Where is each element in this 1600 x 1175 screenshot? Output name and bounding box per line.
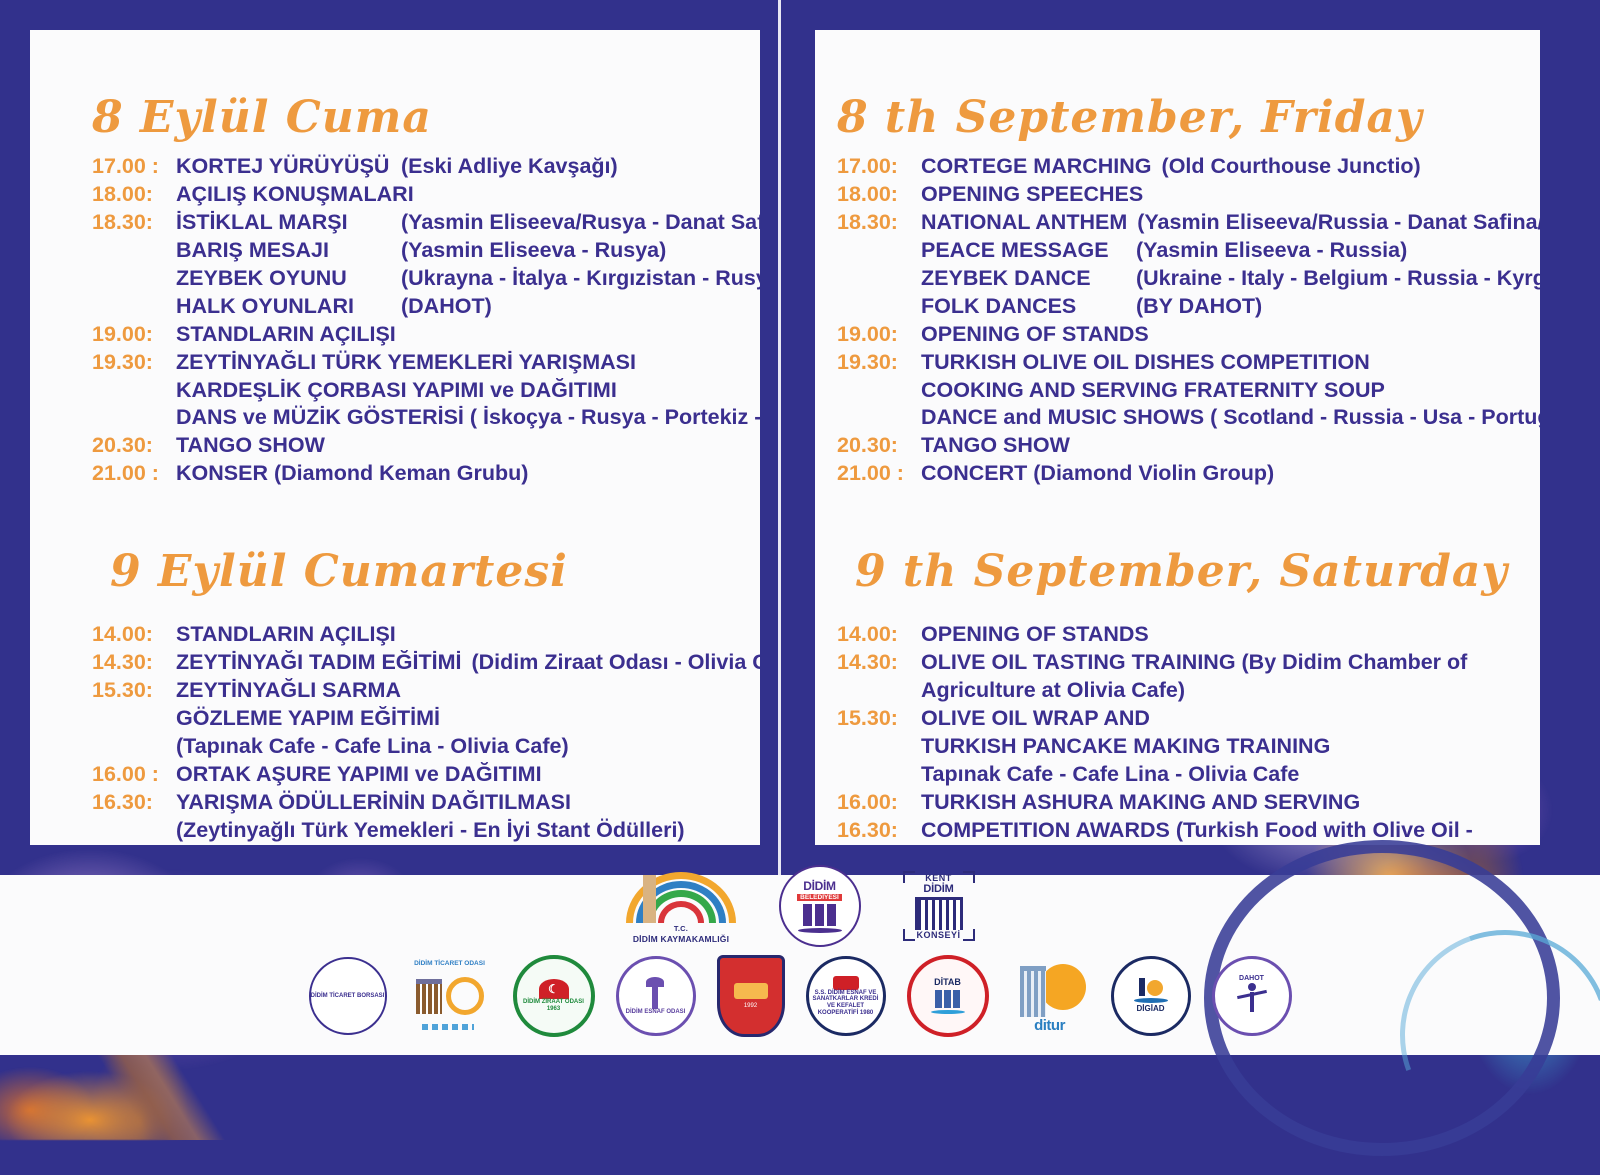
event-detail: (Ukraine - Italy - Belgium - Russia - Ky… <box>1126 265 1540 293</box>
event-detail: (Eski Adliye Kavşağı) <box>391 153 618 181</box>
event-detail: (Yasmin Eliseeva/Russia - Danat Safina/K… <box>1127 209 1540 237</box>
event-title: TANGO SHOW <box>176 432 325 460</box>
event-detail: (Yasmin Eliseeva - Rusya) <box>391 237 666 265</box>
schedule-row: 17.00 : KORTEJ YÜRÜYÜŞÜ (Eski Adliye Kav… <box>92 153 760 181</box>
primary-logo-row: T.C. DİDİM KAYMAKAMLIĞI DİDİM BELEDİYESİ… <box>0 862 1600 950</box>
event-time: 20.30: <box>837 432 921 460</box>
event-title: PEACE MESSAGE <box>921 237 1126 265</box>
schedule-turkish-friday: 17.00 : KORTEJ YÜRÜYÜŞÜ (Eski Adliye Kav… <box>92 153 760 488</box>
logo-kaymakamlik-line1: T.C. <box>674 925 688 934</box>
schedule-row: 20.30: TANGO SHOW <box>92 432 760 460</box>
section-spacer <box>837 488 1540 546</box>
event-title: FOLK DANCES <box>921 293 1126 321</box>
event-time: 15.30: <box>837 705 921 733</box>
event-time: 14.30: <box>837 649 921 677</box>
panel-inner-english: 8 th September, Friday 17.00: CORTEGE MA… <box>815 30 1540 845</box>
schedule-row: FOLK DANCES (BY DAHOT) <box>837 293 1540 321</box>
logo-didim-ticaret-odasi-label: DİDİM TİCARET ODASI <box>408 960 492 967</box>
logo-ditab-label: DİTAB <box>934 978 961 987</box>
schedule-row: 19.00: STANDLARIN AÇILIŞI <box>92 321 760 349</box>
schedule-row: 15.30: ZEYTİNYAĞLI SARMA <box>92 677 760 705</box>
event-title: OPENING OF STANDS <box>921 621 1149 649</box>
event-title: TURKISH ASHURA MAKING AND SERVING <box>921 789 1360 817</box>
schedule-row: 14.00: STANDLARIN AÇILIŞI <box>92 621 760 649</box>
schedule-row: Agriculture at Olivia Cafe) <box>837 677 1540 705</box>
logo-didim-esnaf-odasi-label: DİDİM ESNAF ODASI <box>626 1009 686 1016</box>
event-title: KORTEJ YÜRÜYÜŞÜ <box>176 153 391 181</box>
event-detail: (Yasmin Eliseeva/Rusya - Danat Safin / K… <box>391 209 760 237</box>
event-title: COMPETITION AWARDS (Turkish Food with Ol… <box>921 817 1473 845</box>
wave-icon <box>422 1024 474 1030</box>
logo-dahot-label: DAHOT <box>1239 975 1264 982</box>
rainbow-arc-icon <box>629 875 733 923</box>
sponsor-logo-row: DİDİM TİCARET BORSASI DİDİM TİCARET ODAS… <box>0 950 1600 1042</box>
logo-ticaret-borsasi-label: DİDİM TİCARET BORSASI <box>311 993 385 1000</box>
event-title: HALK OYUNLARI <box>176 293 391 321</box>
event-time: 14.30: <box>92 649 176 677</box>
logo-ticaret-borsasi: DİDİM TİCARET BORSASI <box>309 957 387 1035</box>
event-title: ZEYBEK DANCE <box>921 265 1126 293</box>
schedule-row: ZEYBEK OYUNU (Ukrayna - İtalya - Kırgızi… <box>92 265 760 293</box>
logo-sanayi-odasi: 1992 <box>717 955 785 1037</box>
event-time: 19.00: <box>92 321 176 349</box>
schedule-row: COOKING AND SERVING FRATERNITY SOUP <box>837 377 1540 405</box>
logo-dahot: DAHOT <box>1212 956 1292 1036</box>
schedule-row: 21.00 : CONCERT (Diamond Violin Group) <box>837 460 1540 488</box>
event-title: GÖZLEME YAPIM EĞİTİMİ <box>176 705 440 733</box>
schedule-row: 16.00 : ORTAK AŞURE YAPIMI ve DAĞITIMI <box>92 761 760 789</box>
event-detail: (Didim Ziraat Odası - Olivia Cafe) <box>461 649 760 677</box>
panel-inner-turkish: 8 Eylül Cuma 17.00 : KORTEJ YÜRÜYÜŞÜ (Es… <box>30 30 760 845</box>
event-detail: (DAHOT) <box>391 293 492 321</box>
logo-belediye-line1: DİDİM <box>803 879 836 893</box>
schedule-turkish-saturday: 14.00: STANDLARIN AÇILIŞI 14.30: ZEYTİNY… <box>92 621 760 845</box>
day-title-english-friday: 8 th September, Friday <box>837 92 1540 143</box>
event-detail: (Yasmin Eliseeva - Russia) <box>1126 237 1407 265</box>
panel-divider <box>778 0 781 875</box>
section-spacer <box>92 488 760 546</box>
poster-root: 8 Eylül Cuma 17.00 : KORTEJ YÜRÜYÜŞÜ (Es… <box>0 0 1600 1130</box>
event-title: YARIŞMA ÖDÜLLERİNİN DAĞITILMASI <box>176 789 571 817</box>
logo-kent-line2: DİDİM <box>923 883 953 895</box>
schedule-row: 18.00: AÇILIŞ KONUŞMALARI <box>92 181 760 209</box>
logo-kent-line3: KONSEYİ <box>916 930 960 940</box>
event-time: 14.00: <box>837 621 921 649</box>
schedule-english-friday: 17.00: CORTEGE MARCHING (Old Courthouse … <box>837 153 1540 488</box>
logo-didim-esnaf-odasi-seal: DİDİM ESNAF ODASI <box>616 956 696 1036</box>
logo-sanayi-odasi-label: 1992 <box>744 1003 757 1010</box>
event-title: OLIVE OIL TASTING TRAINING (By Didim Cha… <box>921 649 1467 677</box>
event-detail: (BY DAHOT) <box>1126 293 1262 321</box>
logo-ditur: ditur <box>1010 958 1090 1034</box>
schedule-row: ZEYBEK DANCE (Ukraine - Italy - Belgium … <box>837 265 1540 293</box>
event-title: (Tapınak Cafe - Cafe Lina - Olivia Cafe) <box>176 733 569 761</box>
logo-digiad-seal: DİGİAD <box>1111 956 1191 1036</box>
event-time: 16.00: <box>837 789 921 817</box>
logo-kaymakamlik: T.C. DİDİM KAYMAKAMLIĞI <box>624 867 739 945</box>
event-time: 16.00 : <box>92 761 176 789</box>
schedule-row: 14.30: OLIVE OIL TASTING TRAINING (By Di… <box>837 649 1540 677</box>
schedule-row: 21.00 : KONSER (Diamond Keman Grubu) <box>92 460 760 488</box>
schedule-row: 16.00: TURKISH ASHURA MAKING AND SERVING <box>837 789 1540 817</box>
column-icon <box>416 979 442 1014</box>
schedule-row: TURKISH PANCAKE MAKING TRAINING <box>837 733 1540 761</box>
event-title: ZEYBEK OYUNU <box>176 265 391 293</box>
event-title: ZEYTİNYAĞLI TÜRK YEMEKLERİ YARIŞMASI <box>176 349 636 377</box>
pillars-icon <box>803 904 836 926</box>
logo-ziraat-odasi-seal: ☾ DİDİM ZİRAAT ODASI 1963 <box>513 955 595 1037</box>
event-title: ORTAK AŞURE YAPIMI ve DAĞITIMI <box>176 761 542 789</box>
logo-esnaf-kefalet-label: S.S. DİDİM ESNAF VE SANATKARLAR KREDİ VE… <box>809 990 883 1016</box>
wave-icon <box>798 928 842 933</box>
schedule-row: BARIŞ MESAJI (Yasmin Eliseeva - Rusya) <box>92 237 760 265</box>
event-time: 18.00: <box>837 181 921 209</box>
event-title: OPENING OF STANDS <box>921 321 1149 349</box>
event-title: OPENING SPEECHES <box>921 181 1143 209</box>
logo-ditab: DİTAB <box>907 955 989 1037</box>
schedule-row: 18.30: İSTİKLAL MARŞI (Yasmin Eliseeva/R… <box>92 209 760 237</box>
event-time: 21.00 : <box>837 460 921 488</box>
event-title: COOKING AND SERVING FRATERNITY SOUP <box>921 377 1385 405</box>
event-title: OLIVE OIL WRAP AND <box>921 705 1150 733</box>
logo-belediye-line2: BELEDİYESİ <box>797 894 842 901</box>
event-title: ZEYTİNYAĞLI SARMA <box>176 677 401 705</box>
schedule-row: 15.30: OLIVE OIL WRAP AND <box>837 705 1540 733</box>
event-time: 15.30: <box>92 677 176 705</box>
logo-esnaf-kefalet: S.S. DİDİM ESNAF VE SANATKARLAR KREDİ VE… <box>806 956 886 1036</box>
event-time: 16.30: <box>837 817 921 845</box>
program-panel-turkish: 8 Eylül Cuma 17.00 : KORTEJ YÜRÜYÜŞÜ (Es… <box>30 30 760 845</box>
logo-ditab-seal: DİTAB <box>907 955 989 1037</box>
bracket-icon <box>903 871 915 883</box>
sun-icon <box>1040 964 1086 1010</box>
schedule-row: GÖZLEME YAPIM EĞİTİMİ <box>92 705 760 733</box>
event-title: İSTİKLAL MARŞI <box>176 209 391 237</box>
event-title: CORTEGE MARCHING <box>921 153 1152 181</box>
logo-esnaf-kefalet-seal: S.S. DİDİM ESNAF VE SANATKARLAR KREDİ VE… <box>806 956 886 1036</box>
schedule-row: HALK OYUNLARI (DAHOT) <box>92 293 760 321</box>
event-time: 18.00: <box>92 181 176 209</box>
schedule-row: (Tapınak Cafe - Cafe Lina - Olivia Cafe) <box>92 733 760 761</box>
wave-icon <box>1134 998 1168 1003</box>
event-time: 19.00: <box>837 321 921 349</box>
schedule-row: 17.00: CORTEGE MARCHING (Old Courthouse … <box>837 153 1540 181</box>
event-time: 16.30: <box>92 789 176 817</box>
event-time: 14.00: <box>92 621 176 649</box>
event-title: BARIŞ MESAJI <box>176 237 391 265</box>
logo-digiad: DİGİAD <box>1111 956 1191 1036</box>
logo-didim-ticaret-odasi: DİDİM TİCARET ODASI <box>408 958 492 1034</box>
bracket-icon <box>963 871 975 883</box>
schedule-row: DANCE and MUSIC SHOWS ( Scotland - Russi… <box>837 404 1540 432</box>
day-title-turkish-saturday: 9 Eylül Cumartesi <box>110 546 760 597</box>
event-title: Tapınak Cafe - Cafe Lina - Olivia Cafe <box>921 761 1299 789</box>
logo-ziraat-odasi: ☾ DİDİM ZİRAAT ODASI 1963 <box>513 955 595 1037</box>
event-title: KONSER (Diamond Keman Grubu) <box>176 460 528 488</box>
event-title: CONCERT (Diamond Violin Group) <box>921 460 1274 488</box>
event-title: TURKISH OLIVE OIL DISHES COMPETITION <box>921 349 1370 377</box>
event-title: STANDLARIN AÇILIŞI <box>176 621 396 649</box>
logo-kent-line1: KENT <box>925 873 952 883</box>
event-title: TURKISH PANCAKE MAKING TRAINING <box>921 733 1330 761</box>
event-time: 20.30: <box>92 432 176 460</box>
event-title: AÇILIŞ KONUŞMALARI <box>176 181 414 209</box>
logo-didim-esnaf-odasi: DİDİM ESNAF ODASI <box>616 956 696 1036</box>
day-title-turkish-friday: 8 Eylül Cuma <box>92 92 760 143</box>
event-title: (Zeytinyağlı Türk Yemekleri - En İyi Sta… <box>176 817 685 845</box>
city-gate-icon <box>915 897 963 930</box>
day-title-english-saturday: 9 th September, Saturday <box>855 546 1540 597</box>
logo-kent-konseyi: KENT DİDİM KONSEYİ <box>901 867 977 945</box>
logo-ziraat-odasi-label: DİDİM ZİRAAT ODASI 1963 <box>517 999 591 1012</box>
event-time: 18.30: <box>837 209 921 237</box>
schedule-row: (Zeytinyağlı Türk Yemekleri - En İyi Sta… <box>92 817 760 845</box>
schedule-row: 16.30: COMPETITION AWARDS (Turkish Food … <box>837 817 1540 845</box>
schedule-row: 14.00: OPENING OF STANDS <box>837 621 1540 649</box>
logo-ditur-label: ditur <box>1034 1017 1065 1034</box>
event-title: DANCE and MUSIC SHOWS ( Scotland - Russi… <box>921 404 1540 432</box>
schedule-row: 19.00: OPENING OF STANDS <box>837 321 1540 349</box>
schedule-row: Tapınak Cafe - Cafe Lina - Olivia Cafe <box>837 761 1540 789</box>
event-title: NATIONAL ANTHEM <box>921 209 1127 237</box>
logo-belediye: DİDİM BELEDİYESİ <box>779 865 861 947</box>
dancer-icon <box>1239 983 1265 1017</box>
event-title: STANDLARIN AÇILIŞI <box>176 321 396 349</box>
logo-dahot-seal: DAHOT <box>1212 956 1292 1036</box>
schedule-row: 20.30: TANGO SHOW <box>837 432 1540 460</box>
schedule-row: DANS ve MÜZİK GÖSTERİSİ ( İskoçya - Rusy… <box>92 404 760 432</box>
event-time: 18.30: <box>92 209 176 237</box>
schedule-row: 18.00: OPENING SPEECHES <box>837 181 1540 209</box>
sun-icon <box>446 977 484 1015</box>
event-title: TANGO SHOW <box>921 432 1070 460</box>
schedule-row: 19.30: TURKISH OLIVE OIL DISHES COMPETIT… <box>837 349 1540 377</box>
logo-ticaret-borsasi-seal: DİDİM TİCARET BORSASI <box>309 957 387 1035</box>
schedule-row: KARDEŞLİK ÇORBASI YAPIMI ve DAĞITIMI <box>92 377 760 405</box>
bracket-icon <box>903 929 915 941</box>
logo-kaymakamlik-line2: DİDİM KAYMAKAMLIĞI <box>633 935 729 945</box>
column-icon <box>1020 966 1046 1017</box>
event-detail: (Ukrayna - İtalya - Kırgızistan - Rusya … <box>391 265 760 293</box>
logo-digiad-label: DİGİAD <box>1137 1005 1165 1013</box>
bracket-icon <box>963 929 975 941</box>
program-panel-english: 8 th September, Friday 17.00: CORTEGE MA… <box>815 30 1540 845</box>
schedule-row: 16.30: YARIŞMA ÖDÜLLERİNİN DAĞITILMASI <box>92 789 760 817</box>
event-title: KARDEŞLİK ÇORBASI YAPIMI ve DAĞITIMI <box>176 377 617 405</box>
event-title: DANS ve MÜZİK GÖSTERİSİ ( İskoçya - Rusy… <box>176 404 760 432</box>
schedule-row: 14.30: ZEYTİNYAĞI TADIM EĞİTİMİ (Didim Z… <box>92 649 760 677</box>
schedule-row: 18.30: NATIONAL ANTHEM (Yasmin Eliseeva/… <box>837 209 1540 237</box>
event-title: Agriculture at Olivia Cafe) <box>921 677 1185 705</box>
schedule-row: PEACE MESSAGE (Yasmin Eliseeva - Russia) <box>837 237 1540 265</box>
event-time: 17.00: <box>837 153 921 181</box>
schedule-english-saturday: 14.00: OPENING OF STANDS 14.30: OLIVE OI… <box>837 621 1540 845</box>
event-detail: (Old Courthouse Junctio) <box>1152 153 1421 181</box>
logo-kent-konseyi-seal: KENT DİDİM KONSEYİ <box>901 867 977 945</box>
event-time: 17.00 : <box>92 153 176 181</box>
event-time: 21.00 : <box>92 460 176 488</box>
column-icon <box>643 875 656 923</box>
event-time: 19.30: <box>92 349 176 377</box>
schedule-row: 19.30: ZEYTİNYAĞLI TÜRK YEMEKLERİ YARIŞM… <box>92 349 760 377</box>
logo-belediye-seal: DİDİM BELEDİYESİ <box>779 865 861 947</box>
event-time: 19.30: <box>837 349 921 377</box>
event-title: ZEYTİNYAĞI TADIM EĞİTİMİ <box>176 649 461 677</box>
